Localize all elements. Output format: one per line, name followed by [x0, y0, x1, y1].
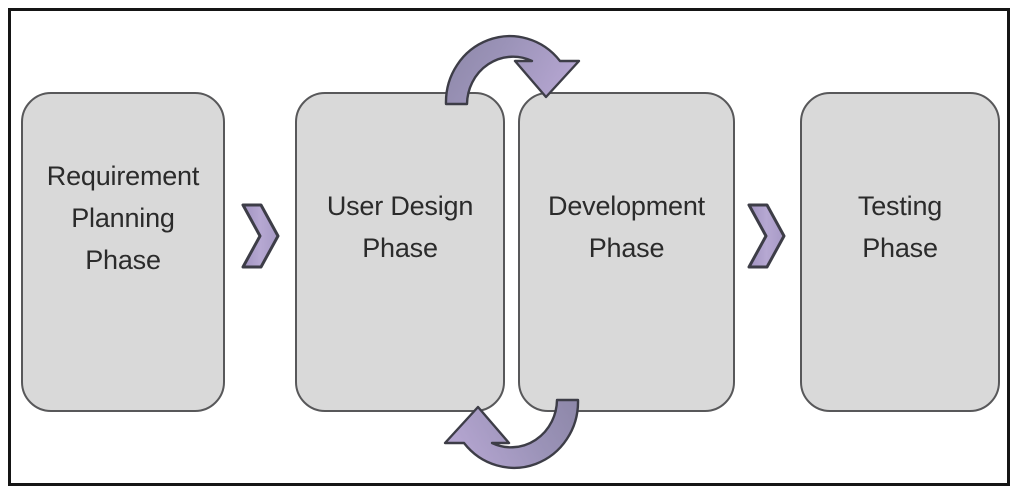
phase-box-development[interactable]: Development Phase	[518, 92, 735, 412]
phase-label-line: Phase	[528, 228, 725, 270]
phase-label-requirement-planning: Requirement Planning Phase	[23, 156, 223, 282]
curved-arrow-icon-development-to-design	[432, 398, 592, 490]
rad-model-diagram: Requirement Planning Phase User Design P…	[0, 0, 1024, 501]
phase-label-testing: Testing Phase	[802, 186, 998, 270]
phase-box-user-design[interactable]: User Design Phase	[295, 92, 505, 412]
phase-label-line: Planning	[31, 198, 215, 240]
phase-label-line: Development	[528, 186, 725, 228]
phase-label-line: Phase	[31, 240, 215, 282]
phase-label-user-design: User Design Phase	[297, 186, 503, 270]
phase-label-line: User Design	[305, 186, 495, 228]
phase-label-development: Development Phase	[520, 186, 733, 270]
phase-label-line: Phase	[305, 228, 495, 270]
phase-label-line: Requirement	[31, 156, 215, 198]
phase-label-line: Phase	[810, 228, 990, 270]
phase-label-line: Testing	[810, 186, 990, 228]
phase-box-requirement-planning[interactable]: Requirement Planning Phase	[21, 92, 225, 412]
phase-box-testing[interactable]: Testing Phase	[800, 92, 1000, 412]
curved-arrow-icon-design-to-development	[432, 14, 592, 106]
chevron-right-icon-requirement-to-design	[238, 200, 282, 272]
chevron-right-icon-development-to-testing	[744, 200, 788, 272]
